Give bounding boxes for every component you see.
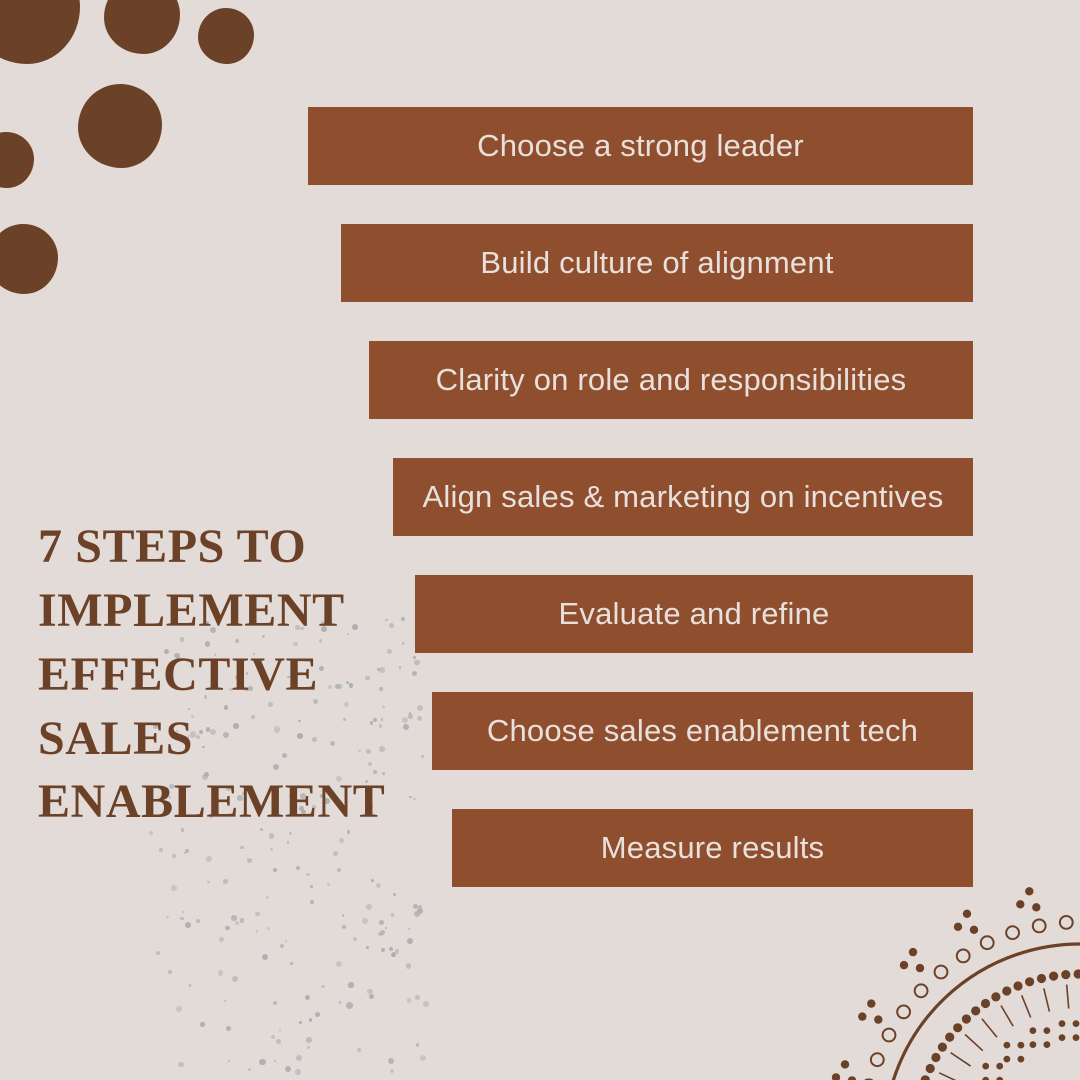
step-bar-7[interactable]: Measure results xyxy=(452,809,973,887)
step-bar-3[interactable]: Clarity on role and responsibilities xyxy=(369,341,973,419)
step-label: Evaluate and refine xyxy=(559,596,830,632)
step-label: Choose sales enablement tech xyxy=(487,713,918,749)
step-bar-1[interactable]: Choose a strong leader xyxy=(308,107,973,185)
step-label: Measure results xyxy=(601,830,825,866)
step-label: Build culture of alignment xyxy=(480,245,833,281)
step-bar-6[interactable]: Choose sales enablement tech xyxy=(432,692,973,770)
step-bar-5[interactable]: Evaluate and refine xyxy=(415,575,973,653)
page-title: 7 Steps To Implement Effective Sales Ena… xyxy=(38,515,398,834)
infographic-poster: 7 Steps To Implement Effective Sales Ena… xyxy=(0,0,1080,1080)
step-label: Choose a strong leader xyxy=(477,128,804,164)
step-label: Align sales & marketing on incentives xyxy=(423,479,944,515)
step-label: Clarity on role and responsibilities xyxy=(436,362,907,398)
step-bar-2[interactable]: Build culture of alignment xyxy=(341,224,973,302)
step-bar-4[interactable]: Align sales & marketing on incentives xyxy=(393,458,973,536)
